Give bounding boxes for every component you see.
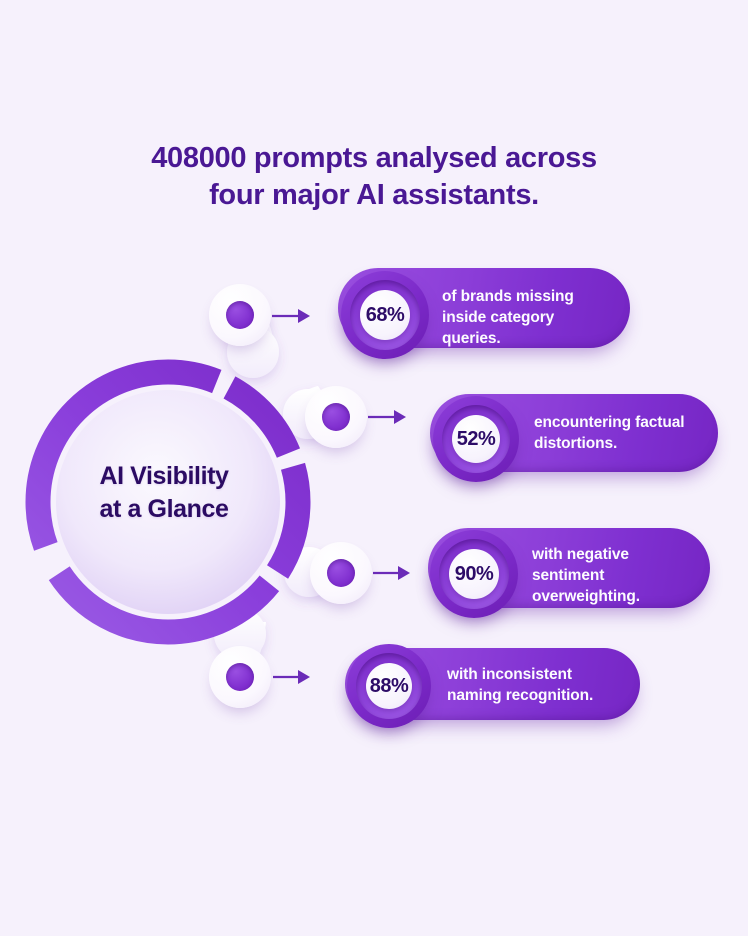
stat-text-line: sentiment (532, 565, 704, 586)
stat-badge-1[interactable]: 68% (341, 271, 429, 359)
arrow-right-icon-1 (272, 309, 310, 323)
stat-row-4[interactable]: with inconsistent naming recognition. 88… (345, 648, 640, 728)
node-dot-icon (322, 403, 350, 431)
stat-row-1[interactable]: of brands missing inside category querie… (338, 268, 630, 354)
hub: AI Visibility at a Glance (18, 352, 318, 652)
stat-row-3[interactable]: with negative sentiment overweighting. 9… (428, 528, 710, 616)
hub-label-line-1: AI Visibility (48, 460, 280, 493)
page-title-line-2: four major AI assistants. (0, 177, 748, 214)
stat-percent-3: 90% (455, 563, 494, 586)
node-1[interactable] (209, 284, 271, 346)
node-dot-icon (327, 559, 355, 587)
node-4[interactable] (209, 646, 271, 708)
stat-text-line: of brands missing (442, 286, 618, 307)
stat-badge-3[interactable]: 90% (430, 530, 518, 618)
hub-label: AI Visibility at a Glance (48, 460, 280, 526)
arrow-right-icon-2 (368, 410, 406, 424)
stat-percent-2: 52% (457, 428, 496, 451)
stat-text-line: encountering factual (534, 412, 712, 433)
stat-text-line: overweighting. (532, 586, 704, 607)
hub-label-line-2: at a Glance (48, 493, 280, 526)
page-title: 408000 prompts analysed across four majo… (0, 140, 748, 214)
stat-percent-4: 88% (370, 675, 409, 698)
badge-core: 52% (452, 415, 500, 463)
infographic-canvas: 408000 prompts analysed across four majo… (0, 0, 748, 936)
stat-text-line: distortions. (534, 433, 712, 454)
stat-row-2[interactable]: encountering factual distortions. 52% (430, 394, 718, 480)
stat-text-line: inside category (442, 307, 618, 328)
page-title-line-1: 408000 prompts analysed across (0, 140, 748, 177)
stat-text-1: of brands missing inside category querie… (442, 286, 618, 349)
stat-text-line: with negative (532, 544, 704, 565)
stat-text-3: with negative sentiment overweighting. (532, 544, 704, 607)
stat-text-2: encountering factual distortions. (534, 412, 712, 454)
badge-core: 90% (449, 549, 499, 599)
stat-badge-4[interactable]: 88% (347, 644, 431, 728)
stat-badge-2[interactable]: 52% (433, 396, 519, 482)
node-3[interactable] (310, 542, 372, 604)
node-2[interactable] (305, 386, 367, 448)
stat-text-4: with inconsistent naming recognition. (447, 664, 633, 706)
badge-core: 88% (366, 663, 412, 709)
arrow-right-icon-3 (373, 566, 410, 580)
node-dot-icon (226, 301, 254, 329)
stat-text-line: queries. (442, 328, 618, 349)
badge-core: 68% (360, 290, 410, 340)
stat-percent-1: 68% (366, 304, 405, 327)
arrow-right-icon-4 (273, 670, 310, 684)
stat-text-line: with inconsistent (447, 664, 633, 685)
node-dot-icon (226, 663, 254, 691)
stat-text-line: naming recognition. (447, 685, 633, 706)
